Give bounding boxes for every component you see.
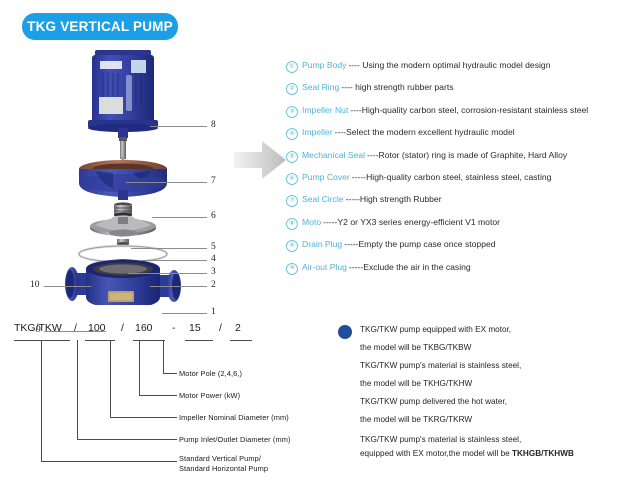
code-separator: - <box>172 322 176 334</box>
note-line: the model will be TKRG/TKRW <box>360 415 472 424</box>
code-separator: / <box>219 322 222 334</box>
callout-number-8: 8 <box>211 120 216 130</box>
legend-part-name: Impeller Nut <box>302 105 348 116</box>
legend-item: ① Pump Body ---- Using the modern optima… <box>286 60 617 82</box>
code-drop-impeller <box>110 340 111 417</box>
legend-part-desc: ----High-quality carbon steel, corrosion… <box>350 105 588 116</box>
legend-item: ③ Impeller Nut ----High-quality carbon s… <box>286 105 617 127</box>
callout-number-6: 6 <box>211 211 216 221</box>
code-underline-pole <box>230 340 252 341</box>
legend-number-icon: ④ <box>286 128 298 140</box>
note-line: TKG/TKW pump's material is stainless ste… <box>360 435 521 444</box>
code-underline-impeller <box>133 340 165 341</box>
callout-number-4: 4 <box>211 254 216 264</box>
legend-number-icon: ⑥ <box>286 173 298 185</box>
code-drop-inlet <box>77 340 78 439</box>
callout-line-2 <box>150 286 207 287</box>
note-line-final: equipped with EX motor,the model will be… <box>360 449 574 458</box>
legend-part-name: Air-out Plug <box>302 262 347 273</box>
legend-part-desc: -----High strength Rubber <box>346 194 442 205</box>
legend-part-name: Impeller <box>302 127 333 138</box>
legend-number-icon: ⑩ <box>286 263 298 275</box>
legend-part-name: Moto <box>302 217 321 228</box>
callout-line-4 <box>140 260 207 261</box>
legend-part-desc: ---- high strength rubber parts <box>341 82 453 93</box>
code-drop-power <box>139 340 140 395</box>
code-leader-inlet <box>77 439 177 440</box>
legend-part-desc: ----Rotor (stator) ring is made of Graph… <box>367 150 567 161</box>
legend-item: ⑨ Drain Plug -----Empty the pump case on… <box>286 239 617 261</box>
callout-line-6 <box>152 217 207 218</box>
callout-line-5 <box>131 248 207 249</box>
legend-part-name: Pump Cover <box>302 172 350 183</box>
callout-line-10 <box>44 286 91 287</box>
legend-part-name: Pump Body <box>302 60 346 71</box>
legend-item: ⑧ Moto -----Y2 or YX3 series energy-effi… <box>286 217 617 239</box>
code-drop-series <box>41 340 42 461</box>
note-text: equipped with EX motor,the model will be <box>360 449 512 458</box>
note-model-code: TKHGB/TKHWB <box>512 449 574 458</box>
callout-line-3 <box>128 273 207 274</box>
code-separator: / <box>121 322 124 334</box>
pump-exploded-diagram <box>0 45 240 305</box>
bullet-dot-icon <box>338 325 352 339</box>
callout-line-7 <box>126 182 207 183</box>
legend-item: ⑦ Seal Circle -----High strength Rubber <box>286 194 617 216</box>
impeller-part <box>90 217 156 237</box>
page-title: TKG VERTICAL PUMP <box>27 19 173 34</box>
page-title-banner: TKG VERTICAL PUMP <box>22 13 178 40</box>
legend-part-name: Mechanical Seal <box>302 150 365 161</box>
code-label-impeller: Impeller Nominal Diameter (mm) <box>179 413 289 422</box>
code-separator: / <box>74 322 77 334</box>
code-token-series: TKG/TKW <box>14 322 62 334</box>
callout-number-10: 10 <box>30 280 40 290</box>
callout-number-2: 2 <box>211 280 216 290</box>
legend-number-icon: ⑦ <box>286 195 298 207</box>
code-underline-series <box>14 340 70 341</box>
legend-part-desc: ---- Using the modern optimal hydraulic … <box>348 60 550 71</box>
legend-part-desc: -----High-quality carbon steel, stainles… <box>352 172 552 183</box>
code-label-inlet: Pump Inlet/Outlet Diameter (mm) <box>179 435 291 444</box>
legend-part-name: Seal Ring <box>302 82 339 93</box>
code-leader-power <box>139 395 177 396</box>
legend-part-desc: -----Empty the pump case once stopped <box>344 239 495 250</box>
legend-number-icon: ⑨ <box>286 240 298 252</box>
motor-part <box>88 50 158 132</box>
legend-item: ④ Impeller ----Select the modern excelle… <box>286 127 617 149</box>
parts-legend: ① Pump Body ---- Using the modern optima… <box>286 60 617 284</box>
legend-number-icon: ⑤ <box>286 151 298 163</box>
code-underline-power <box>185 340 213 341</box>
code-token-impeller: 160 <box>135 322 153 334</box>
note-line: TKG/TKW pump's material is stainless ste… <box>360 361 521 370</box>
legend-part-name: Drain Plug <box>302 239 342 250</box>
legend-item: ⑤ Mechanical Seal ----Rotor (stator) rin… <box>286 150 617 172</box>
note-line: the model will be TKHG/TKHW <box>360 379 472 388</box>
code-label-pole: Motor Pole (2,4,6,) <box>179 369 242 378</box>
legend-number-icon: ⑧ <box>286 218 298 230</box>
legend-number-icon: ③ <box>286 106 298 118</box>
code-drop-pole <box>163 340 164 373</box>
legend-number-icon: ① <box>286 61 298 73</box>
callout-number-3: 3 <box>211 267 216 277</box>
legend-item: ⑥ Pump Cover -----High-quality carbon st… <box>286 172 617 194</box>
note-line: the model will be TKBG/TKBW <box>360 343 471 352</box>
code-leader-series <box>41 461 177 462</box>
code-leader-impeller <box>110 417 177 418</box>
callout-number-5: 5 <box>211 242 216 252</box>
callout-number-7: 7 <box>211 176 216 186</box>
code-label-series-line1: Standard Vertical Pump/ <box>179 454 261 463</box>
legend-number-icon: ② <box>286 83 298 95</box>
legend-part-desc: -----Y2 or YX3 series energy-efficient V… <box>323 217 500 228</box>
legend-part-desc: -----Exclude the air in the casing <box>349 262 471 273</box>
legend-part-desc: ----Select the modern excellent hydrauli… <box>335 127 515 138</box>
note-line: TKG/TKW pump delivered the hot water, <box>360 397 507 406</box>
callout-line-8 <box>150 126 207 127</box>
code-label-power: Motor Power (kW) <box>179 391 240 400</box>
code-label-series-line2: Standard Horizontal Pump <box>179 464 268 473</box>
code-token-power: 15 <box>189 322 201 334</box>
pump-cover-part <box>79 160 167 200</box>
code-leader-pole <box>163 373 177 374</box>
note-line: TKG/TKW pump equipped with EX motor, <box>360 325 511 334</box>
code-token-pole: 2 <box>235 322 241 334</box>
right-arrow-icon <box>232 138 288 182</box>
legend-item: ⑩ Air-out Plug -----Exclude the air in t… <box>286 262 617 284</box>
pump-body-part <box>65 259 181 305</box>
model-code-breakdown: TKG/TKW 100 160 15 2 / / - / Motor Pole … <box>0 310 312 500</box>
code-token-inlet: 100 <box>88 322 106 334</box>
legend-item: ② Seal Ring ---- high strength rubber pa… <box>286 82 617 104</box>
legend-part-name: Seal Circle <box>302 194 344 205</box>
